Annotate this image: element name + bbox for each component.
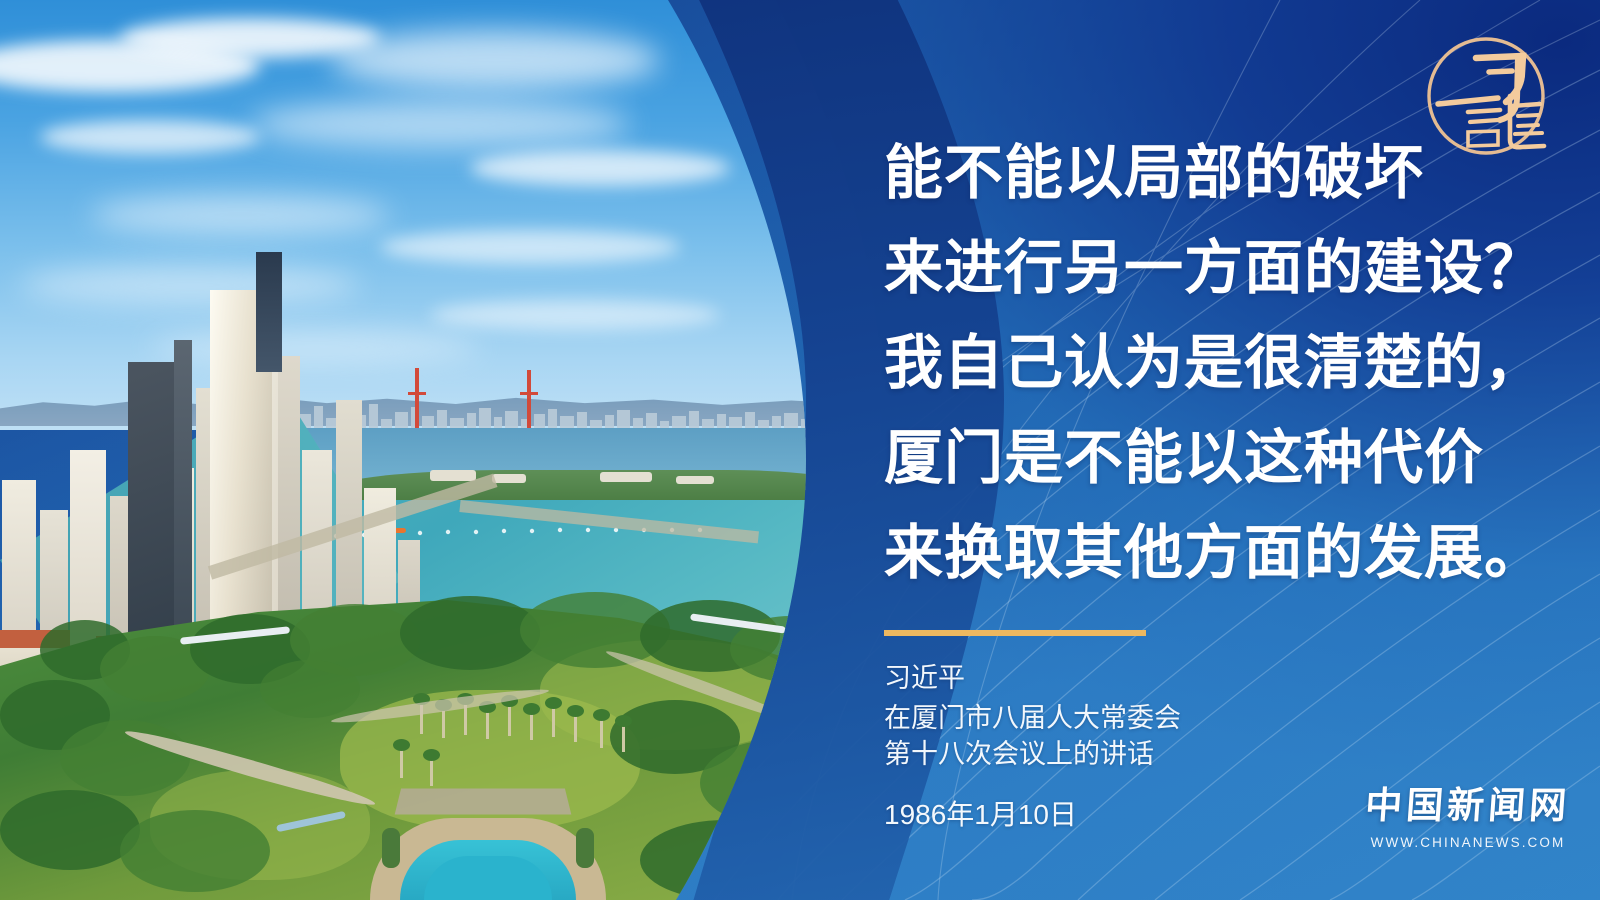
quote-line-5: 来换取其他方面的发展。 [884, 506, 1524, 601]
brand-url: WWW.CHINANEWS.COM [1362, 835, 1574, 850]
city-photo [0, 0, 860, 900]
speech-date: 1986年1月10日 [884, 793, 1077, 833]
quote-line-2: 来进行另一方面的建设？ [884, 221, 1524, 316]
speaker-name: 习近平 [884, 660, 1181, 696]
quote-text: 能不能以局部的破坏 来进行另一方面的建设？ 我自己认为是很清楚的， 厦门是不能以… [884, 126, 1524, 601]
quote-poster: 能不能以局部的破坏 来进行另一方面的建设？ 我自己认为是很清楚的， 厦门是不能以… [0, 0, 1600, 900]
occasion-line-2: 第十八次会议上的讲话 [884, 736, 1181, 772]
quote-line-1: 能不能以局部的破坏 [884, 126, 1524, 221]
quote-line-4: 厦门是不能以这种代价 [884, 411, 1524, 506]
gold-divider [884, 630, 1146, 636]
attribution-block: 习近平 在厦门市八届人大常委会 第十八次会议上的讲话 [884, 660, 1181, 772]
occasion-line-1: 在厦门市八届人大常委会 [884, 700, 1181, 736]
brand-name-cn: 中国新闻网 [1360, 775, 1576, 829]
brand-block: 中国新闻网 WWW.CHINANEWS.COM [1362, 775, 1574, 850]
quote-line-3: 我自己认为是很清楚的， [884, 316, 1524, 411]
